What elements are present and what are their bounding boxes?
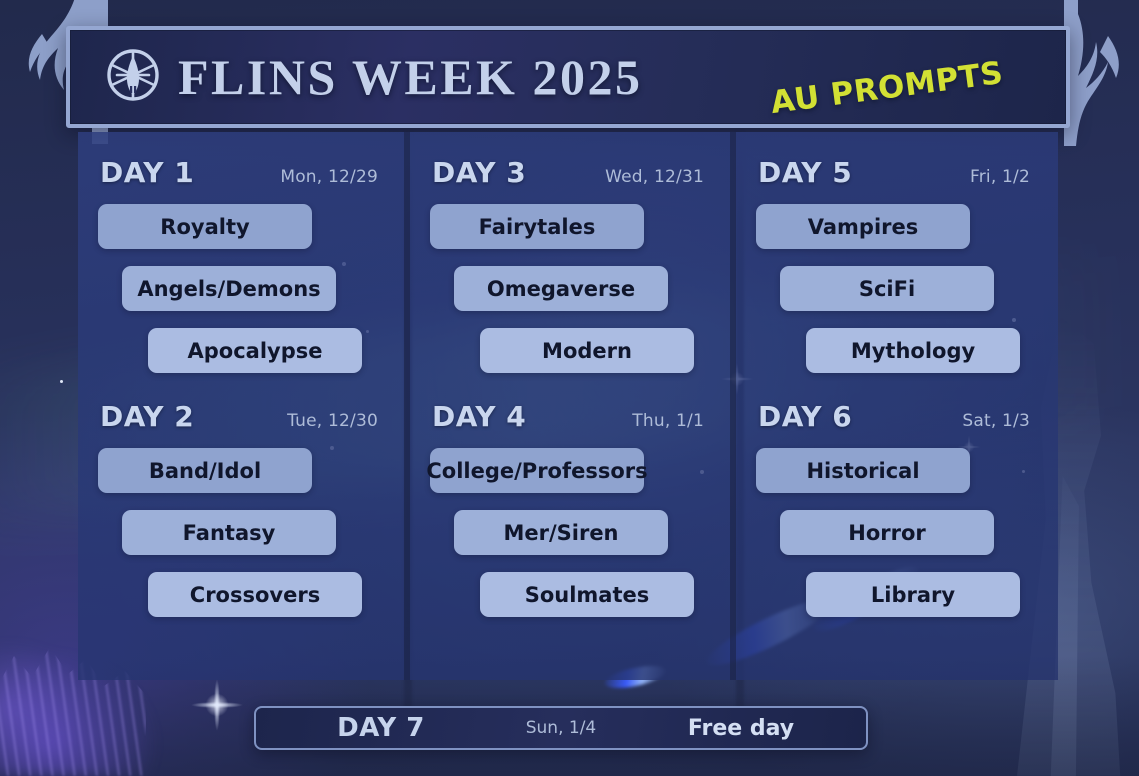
prompt-pill[interactable]: Apocalypse bbox=[148, 328, 362, 373]
day-note: Free day bbox=[636, 716, 846, 741]
day-block-1: DAY 1 Mon, 12/29 Royalty Angels/Demons A… bbox=[98, 146, 384, 373]
day-block-6: DAY 6 Sat, 1/3 Historical Horror Library bbox=[756, 390, 1036, 617]
prompt-pill[interactable]: Omegaverse bbox=[454, 266, 668, 311]
schedule-column-1: DAY 1 Mon, 12/29 Royalty Angels/Demons A… bbox=[78, 132, 404, 680]
prompt-pill[interactable]: Fairytales bbox=[430, 204, 644, 249]
schedule-column-2: DAY 3 Wed, 12/31 Fairytales Omegaverse M… bbox=[404, 132, 730, 680]
day-label: DAY 2 bbox=[100, 400, 194, 433]
day-date: Sun, 1/4 bbox=[486, 718, 636, 738]
schedule-panel: DAY 1 Mon, 12/29 Royalty Angels/Demons A… bbox=[78, 132, 1058, 680]
day-block-2: DAY 2 Tue, 12/30 Band/Idol Fantasy Cross… bbox=[98, 390, 384, 617]
prompt-pill[interactable]: Fantasy bbox=[122, 510, 336, 555]
day-header: DAY 6 Sat, 1/3 bbox=[756, 390, 1036, 448]
page-title: FLINS WEEK 2025 bbox=[178, 48, 642, 106]
day-date: Tue, 12/30 bbox=[287, 411, 378, 431]
prompt-pill[interactable]: Historical bbox=[756, 448, 970, 493]
day-date: Fri, 1/2 bbox=[970, 167, 1030, 187]
day-date: Thu, 1/1 bbox=[632, 411, 704, 431]
prompt-pill[interactable]: Soulmates bbox=[480, 572, 694, 617]
prompt-pill[interactable]: Angels/Demons bbox=[122, 266, 336, 311]
prompt-pill[interactable]: Mythology bbox=[806, 328, 1020, 373]
prompt-pill[interactable]: SciFi bbox=[780, 266, 994, 311]
day-label: DAY 4 bbox=[432, 400, 526, 433]
flins-wheel-emblem-icon bbox=[106, 48, 160, 107]
prompt-pill[interactable]: Band/Idol bbox=[98, 448, 312, 493]
day-date: Mon, 12/29 bbox=[280, 167, 378, 187]
day-block-5: DAY 5 Fri, 1/2 Vampires SciFi Mythology bbox=[756, 146, 1036, 373]
header-banner: FLINS WEEK 2025 AU PROMPTS bbox=[66, 26, 1070, 128]
prompt-pill[interactable]: Crossovers bbox=[148, 572, 362, 617]
day-header: DAY 4 Thu, 1/1 bbox=[430, 390, 710, 448]
schedule-column-3: DAY 5 Fri, 1/2 Vampires SciFi Mythology … bbox=[730, 132, 1056, 680]
day-label: DAY 1 bbox=[100, 156, 194, 189]
prompt-pill[interactable]: Vampires bbox=[756, 204, 970, 249]
prompt-pill[interactable]: Horror bbox=[780, 510, 994, 555]
day-header: DAY 1 Mon, 12/29 bbox=[98, 146, 384, 204]
day-7-bar[interactable]: DAY 7 Sun, 1/4 Free day bbox=[254, 706, 868, 750]
prompt-pill[interactable]: College/Professors bbox=[430, 448, 644, 493]
day-date: Sat, 1/3 bbox=[962, 411, 1030, 431]
prompt-pill[interactable]: Modern bbox=[480, 328, 694, 373]
day-header: DAY 2 Tue, 12/30 bbox=[98, 390, 384, 448]
day-block-3: DAY 3 Wed, 12/31 Fairytales Omegaverse M… bbox=[430, 146, 710, 373]
day-block-4: DAY 4 Thu, 1/1 College/Professors Mer/Si… bbox=[430, 390, 710, 617]
prompt-pill[interactable]: Royalty bbox=[98, 204, 312, 249]
day-label: DAY 6 bbox=[758, 400, 852, 433]
day-header: DAY 5 Fri, 1/2 bbox=[756, 146, 1036, 204]
prompt-pill[interactable]: Library bbox=[806, 572, 1020, 617]
day-label: DAY 7 bbox=[276, 713, 486, 743]
day-label: DAY 5 bbox=[758, 156, 852, 189]
day-header: DAY 3 Wed, 12/31 bbox=[430, 146, 710, 204]
day-date: Wed, 12/31 bbox=[605, 167, 704, 187]
prompt-pill[interactable]: Mer/Siren bbox=[454, 510, 668, 555]
sparkle-dot-icon bbox=[60, 380, 63, 383]
day-label: DAY 3 bbox=[432, 156, 526, 189]
